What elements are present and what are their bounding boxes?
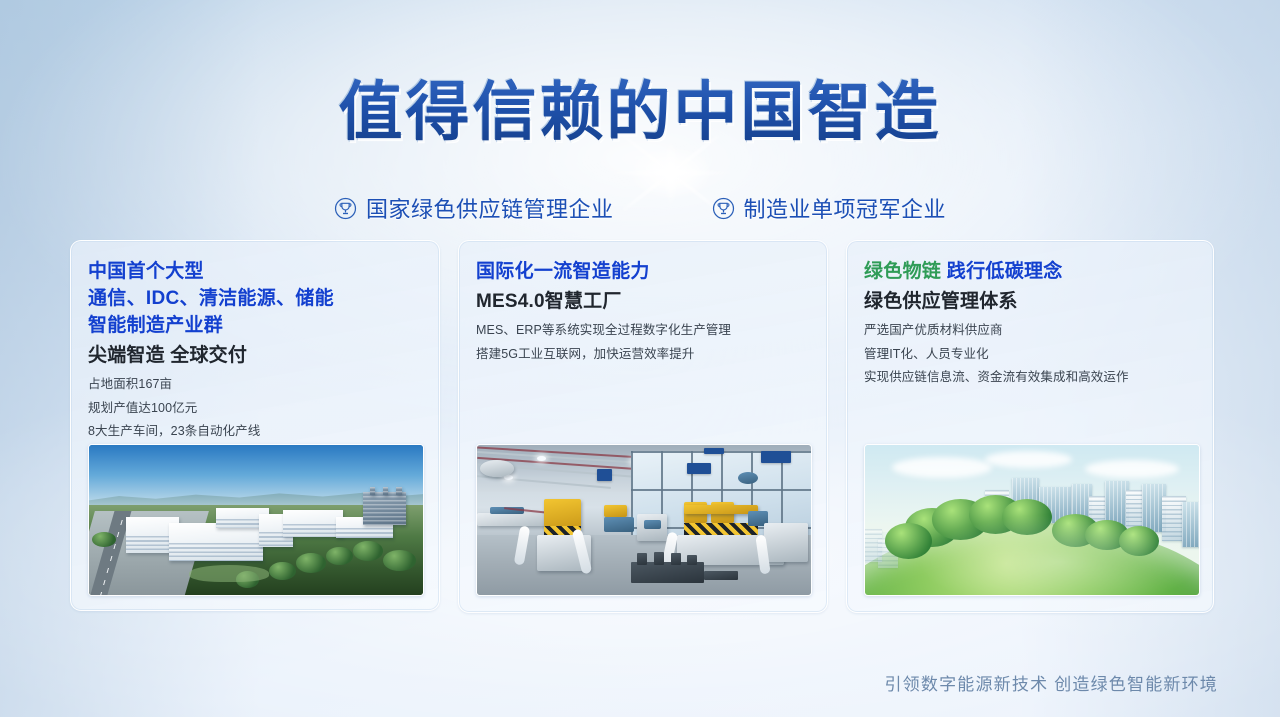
card-detail-line: 严选国产优质材料供应商 — [864, 319, 1196, 342]
card-subheading: 绿色供应管理体系 — [864, 288, 1196, 317]
card-detail-line: 实现供应链信息流、资金流有效集成和高效运作 — [864, 366, 1196, 389]
card-heading-line: 国际化一流智造能力 — [476, 259, 810, 286]
card-subheading: 尖端智造 全球交付 — [88, 342, 422, 371]
trophy-icon — [334, 197, 357, 220]
card-smart-factory[interactable]: 国际化一流智造能力 MES4.0智慧工厂 MES、ERP等系统实现全过程数字化生… — [458, 240, 828, 613]
footer-tagline: 引领数字能源新技术 创造绿色智能新环境 — [884, 670, 1218, 695]
trophy-icon — [712, 197, 735, 220]
card-detail-line: 搭建5G工业互联网，加快运营效率提升 — [476, 343, 810, 366]
badge-national-green-supply-chain: 国家绿色供应链管理企业 — [334, 192, 614, 224]
card-image-industrial-campus — [88, 444, 424, 596]
card-green-logistics[interactable]: 绿色物链 践行低碳理念 绿色供应管理体系 严选国产优质材料供应商 管理IT化、人… — [846, 240, 1214, 613]
card-row: 中国首个大型 通信、IDC、清洁能源、储能 智能制造产业群 尖端智造 全球交付 … — [70, 240, 1214, 613]
title-block: 值得信赖的中国智造 — [0, 78, 1280, 147]
card-industrial-cluster[interactable]: 中国首个大型 通信、IDC、清洁能源、储能 智能制造产业群 尖端智造 全球交付 … — [70, 240, 440, 611]
card-detail-line: MES、ERP等系统实现全过程数字化生产管理 — [476, 319, 810, 342]
badge-row: 国家绿色供应链管理企业 制造业单项冠军企业 — [0, 192, 1280, 224]
card-detail-line: 规划产值达100亿元 — [88, 397, 422, 420]
card-image-smart-factory — [476, 444, 812, 596]
card-detail-line: 管理IT化、人员专业化 — [864, 343, 1196, 366]
card-image-green-globe — [864, 444, 1200, 596]
card-heading: 绿色物链 践行低碳理念 — [864, 259, 1196, 286]
card-detail-line: 8大生产车间，23条自动化产线 — [88, 420, 422, 443]
card-heading-green: 绿色物链 — [864, 261, 941, 282]
badge-label: 制造业单项冠军企业 — [744, 192, 947, 224]
card-subheading: MES4.0智慧工厂 — [476, 288, 810, 317]
card-heading-line: 智能制造产业群 — [88, 313, 422, 340]
card-heading-line: 中国首个大型 — [88, 259, 422, 286]
card-heading-line: 通信、IDC、清洁能源、储能 — [88, 286, 422, 313]
page-title: 值得信赖的中国智造 — [339, 78, 942, 147]
card-detail-line: 占地面积167亩 — [88, 373, 422, 396]
badge-manufacturing-champion: 制造业单项冠军企业 — [712, 192, 947, 224]
card-heading-blue: 践行低碳理念 — [947, 261, 1063, 282]
badge-label: 国家绿色供应链管理企业 — [366, 192, 614, 224]
